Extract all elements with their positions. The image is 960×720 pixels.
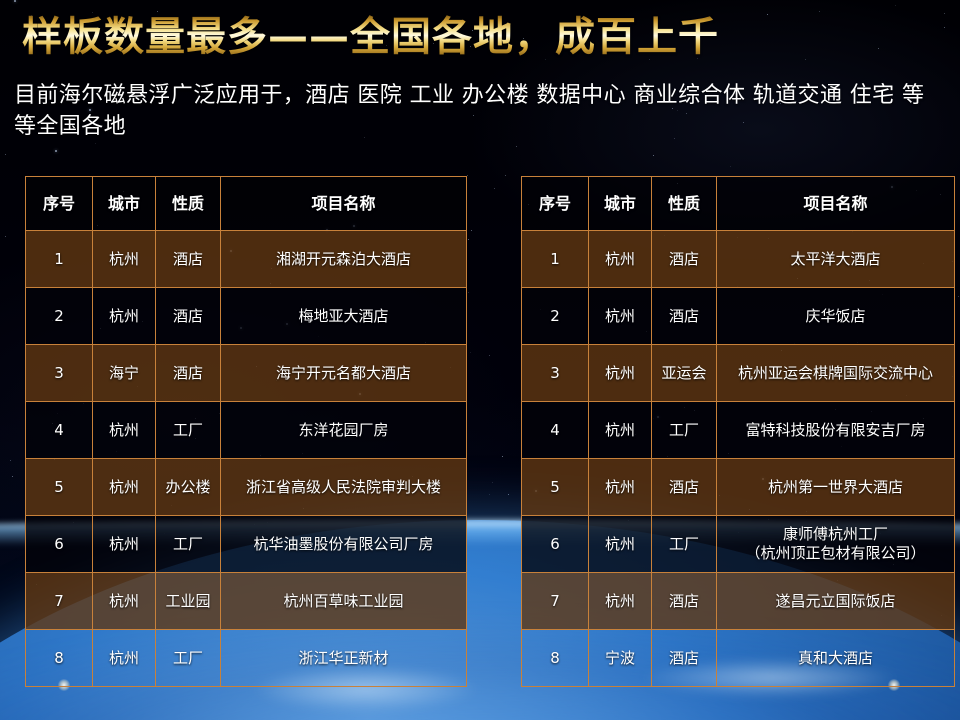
cell-project-name: 太平洋大酒店 (717, 231, 955, 288)
cell-seq: 5 (26, 459, 93, 516)
cell-city: 杭州 (93, 516, 156, 573)
col-header-city: 城市 (93, 177, 156, 231)
cell-city: 杭州 (93, 630, 156, 687)
cell-city: 杭州 (589, 459, 652, 516)
cell-project-name: 东洋花园厂房 (221, 402, 467, 459)
cell-type: 酒店 (652, 630, 717, 687)
cell-seq: 7 (522, 573, 589, 630)
table-row: 4杭州工厂富特科技股份有限安吉厂房 (522, 402, 955, 459)
table-row: 4杭州工厂东洋花园厂房 (26, 402, 467, 459)
cell-city: 杭州 (93, 459, 156, 516)
header-row: 序号城市性质项目名称 (522, 177, 955, 231)
table-row: 1杭州酒店太平洋大酒店 (522, 231, 955, 288)
cell-type: 工厂 (156, 516, 221, 573)
cell-city: 宁波 (589, 630, 652, 687)
cell-project-name: 梅地亚大酒店 (221, 288, 467, 345)
cell-type: 酒店 (652, 231, 717, 288)
cell-city: 海宁 (93, 345, 156, 402)
cell-city: 杭州 (589, 288, 652, 345)
table-row: 5杭州酒店杭州第一世界大酒店 (522, 459, 955, 516)
cell-city: 杭州 (589, 516, 652, 573)
col-header-project-name: 项目名称 (221, 177, 467, 231)
cell-seq: 3 (26, 345, 93, 402)
table-row: 6杭州工厂杭华油墨股份有限公司厂房 (26, 516, 467, 573)
cell-project-name: 浙江华正新材 (221, 630, 467, 687)
table-row: 2杭州酒店庆华饭店 (522, 288, 955, 345)
slide-title: 样板数量最多——全国各地，成百上千 (22, 14, 719, 60)
col-header-seq: 序号 (522, 177, 589, 231)
cell-city: 杭州 (93, 288, 156, 345)
cell-city: 杭州 (93, 402, 156, 459)
cell-type: 工厂 (652, 516, 717, 573)
table-row: 3海宁酒店海宁开元名都大酒店 (26, 345, 467, 402)
table-row: 2杭州酒店梅地亚大酒店 (26, 288, 467, 345)
cell-type: 工厂 (652, 402, 717, 459)
cell-type: 酒店 (156, 288, 221, 345)
cell-project-name: 富特科技股份有限安吉厂房 (717, 402, 955, 459)
cell-project-name: 海宁开元名都大酒店 (221, 345, 467, 402)
cell-city: 杭州 (93, 231, 156, 288)
table-row: 6杭州工厂康师傅杭州工厂（杭州顶正包材有限公司） (522, 516, 955, 573)
cell-seq: 8 (522, 630, 589, 687)
cell-project-name: 遂昌元立国际饭店 (717, 573, 955, 630)
cell-type: 工业园 (156, 573, 221, 630)
cell-project-name: 庆华饭店 (717, 288, 955, 345)
col-header-city: 城市 (589, 177, 652, 231)
cell-project-name: 真和大酒店 (717, 630, 955, 687)
cell-seq: 3 (522, 345, 589, 402)
cell-project-name: 杭华油墨股份有限公司厂房 (221, 516, 467, 573)
cell-type: 酒店 (652, 288, 717, 345)
cell-seq: 2 (522, 288, 589, 345)
table-right-header: 序号城市性质项目名称 (522, 177, 955, 231)
table-left-header: 序号城市性质项目名称 (26, 177, 467, 231)
cell-seq: 5 (522, 459, 589, 516)
cell-type: 办公楼 (156, 459, 221, 516)
col-header-type: 性质 (652, 177, 717, 231)
projects-table-right: 序号城市性质项目名称 1杭州酒店太平洋大酒店2杭州酒店庆华饭店3杭州亚运会杭州亚… (521, 176, 955, 687)
cell-city: 杭州 (589, 345, 652, 402)
cell-seq: 1 (522, 231, 589, 288)
table-row: 8宁波酒店真和大酒店 (522, 630, 955, 687)
cell-project-name: 湘湖开元森泊大酒店 (221, 231, 467, 288)
cell-seq: 7 (26, 573, 93, 630)
cell-seq: 2 (26, 288, 93, 345)
cell-seq: 8 (26, 630, 93, 687)
table-row: 7杭州工业园杭州百草味工业园 (26, 573, 467, 630)
cell-type: 酒店 (156, 231, 221, 288)
cell-type: 酒店 (652, 573, 717, 630)
cell-seq: 1 (26, 231, 93, 288)
header-row: 序号城市性质项目名称 (26, 177, 467, 231)
cell-seq: 6 (522, 516, 589, 573)
cell-city: 杭州 (93, 573, 156, 630)
table-row: 3杭州亚运会杭州亚运会棋牌国际交流中心 (522, 345, 955, 402)
cell-project-name: 杭州亚运会棋牌国际交流中心 (717, 345, 955, 402)
cell-seq: 6 (26, 516, 93, 573)
slide-canvas: 样板数量最多——全国各地，成百上千 目前海尔磁悬浮广泛应用于，酒店 医院 工业 … (0, 0, 960, 720)
table-row: 8杭州工厂浙江华正新材 (26, 630, 467, 687)
table-row: 7杭州酒店遂昌元立国际饭店 (522, 573, 955, 630)
cell-type: 亚运会 (652, 345, 717, 402)
cell-seq: 4 (26, 402, 93, 459)
cell-seq: 4 (522, 402, 589, 459)
col-header-project-name: 项目名称 (717, 177, 955, 231)
cell-city: 杭州 (589, 402, 652, 459)
cell-city: 杭州 (589, 231, 652, 288)
cell-type: 酒店 (156, 345, 221, 402)
table-row: 5杭州办公楼浙江省高级人民法院审判大楼 (26, 459, 467, 516)
table-right-body: 1杭州酒店太平洋大酒店2杭州酒店庆华饭店3杭州亚运会杭州亚运会棋牌国际交流中心4… (522, 231, 955, 687)
cell-city: 杭州 (589, 573, 652, 630)
cell-type: 工厂 (156, 402, 221, 459)
cell-project-name: 浙江省高级人民法院审判大楼 (221, 459, 467, 516)
col-header-seq: 序号 (26, 177, 93, 231)
cell-project-name: 康师傅杭州工厂（杭州顶正包材有限公司） (717, 516, 955, 573)
cell-project-name: 杭州第一世界大酒店 (717, 459, 955, 516)
table-left-body: 1杭州酒店湘湖开元森泊大酒店2杭州酒店梅地亚大酒店3海宁酒店海宁开元名都大酒店4… (26, 231, 467, 687)
slide-subtitle: 目前海尔磁悬浮广泛应用于，酒店 医院 工业 办公楼 数据中心 商业综合体 轨道交… (14, 80, 946, 142)
cell-type: 工厂 (156, 630, 221, 687)
col-header-type: 性质 (156, 177, 221, 231)
table-row: 1杭州酒店湘湖开元森泊大酒店 (26, 231, 467, 288)
projects-table-left: 序号城市性质项目名称 1杭州酒店湘湖开元森泊大酒店2杭州酒店梅地亚大酒店3海宁酒… (25, 176, 467, 687)
cell-type: 酒店 (652, 459, 717, 516)
cell-project-name: 杭州百草味工业园 (221, 573, 467, 630)
